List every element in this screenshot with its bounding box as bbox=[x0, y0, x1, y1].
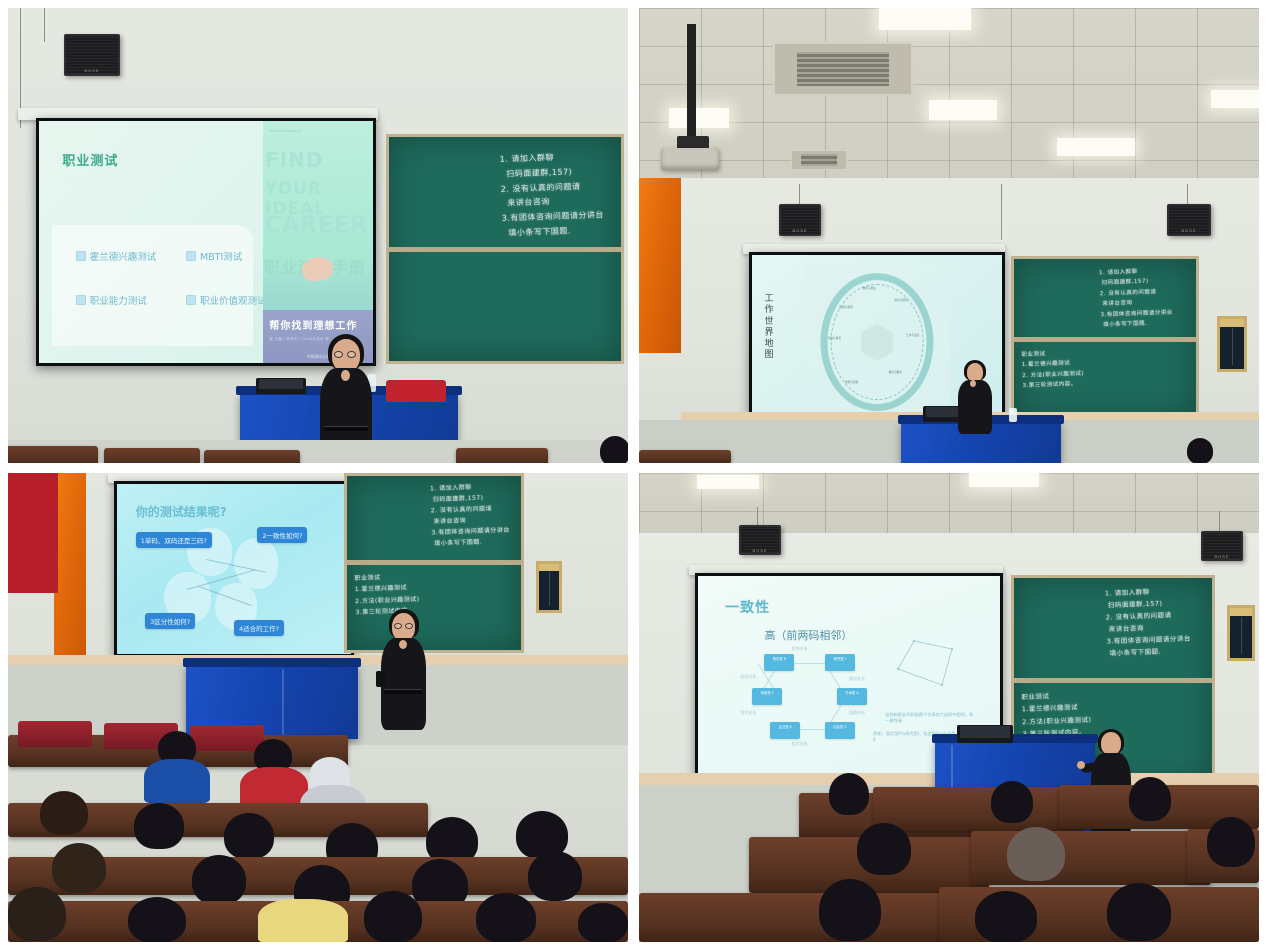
map-diagram: 技术与制造 科学与研究 艺术与设计 教育与服务 管理与销售 行政与事务 机械与建… bbox=[805, 264, 950, 421]
speaker-wire bbox=[1219, 511, 1220, 533]
slide-item-2: 职业能力测试 bbox=[76, 293, 147, 307]
head bbox=[1101, 732, 1121, 755]
map-label: 艺术与设计 bbox=[906, 333, 919, 337]
glasses-right bbox=[347, 351, 356, 358]
orange-pillar bbox=[639, 178, 681, 353]
slide-item-label: 职业价值观测试 bbox=[200, 293, 267, 307]
seat-row bbox=[204, 450, 300, 463]
notice-header bbox=[1230, 608, 1252, 616]
red-bag bbox=[386, 380, 446, 402]
notice-divider bbox=[1241, 617, 1242, 654]
presenter bbox=[376, 609, 432, 735]
map-label: 行政与事务 bbox=[828, 336, 841, 340]
board-text-lower: 职业测试 1.霍兰德兴趣测试 2.方法(职业兴趣测试) 3.第三轮测试内容。 bbox=[1021, 689, 1092, 741]
hex-node-1: 研究型 I bbox=[825, 654, 855, 671]
edge-label: 相对关系 bbox=[849, 676, 865, 682]
speaker-wire bbox=[44, 8, 45, 42]
red-wall-panel bbox=[8, 473, 58, 593]
panel-bottom-right: BOSE BOSE 一致性 高（前两码相邻） 现实型 R 研究型 I 传统型 C… bbox=[639, 473, 1259, 942]
student-head bbox=[476, 893, 536, 942]
ceiling-light bbox=[929, 100, 997, 120]
map-label: 机械与建筑 bbox=[839, 305, 852, 309]
board-text: 1. 请加入群聊 扫码面建群,157) 2. 没有认真的问题请 来讲台咨询 3.… bbox=[499, 149, 604, 241]
slide-subtitle: 高（前两码相邻） bbox=[764, 627, 852, 643]
document-icon bbox=[186, 251, 196, 261]
podium-seam bbox=[282, 669, 284, 735]
student-head bbox=[857, 823, 911, 875]
student-head bbox=[1207, 817, 1255, 867]
student-head bbox=[52, 843, 106, 893]
seat-row bbox=[8, 446, 98, 463]
slide-note-1: 若你的职业代码前两个字母在六边形中相邻，则一致性高 bbox=[885, 712, 976, 725]
document-icon bbox=[186, 295, 196, 305]
notice-divider bbox=[549, 572, 550, 606]
slide-title: 你的测试结果呢? bbox=[136, 503, 227, 520]
edge-label: 相邻关系 bbox=[740, 710, 756, 716]
clicker bbox=[376, 671, 386, 687]
student-head bbox=[8, 887, 66, 941]
student-head bbox=[192, 855, 246, 905]
board-divider bbox=[1014, 678, 1212, 683]
ceiling-vent bbox=[791, 150, 847, 170]
poster-band-title: 帮你找到理想工作 bbox=[269, 317, 357, 332]
panel-top-left: BOSE 职业测试 · · · 霍兰德兴趣测试 MBTI测试 职业能力测试 bbox=[8, 8, 628, 463]
projection-screen: 你的测试结果呢? 1单码、双码还是三码? 2一致性如何? 3区分性如何? 4适合… bbox=[114, 481, 354, 657]
hand bbox=[1077, 761, 1085, 769]
podium-desktop bbox=[183, 658, 362, 667]
ceiling-light bbox=[1057, 138, 1135, 156]
wall-speaker-icon: BOSE bbox=[779, 204, 821, 236]
poster-line1: FIND bbox=[265, 148, 373, 172]
seat-row bbox=[639, 450, 731, 463]
ceiling-projector bbox=[661, 148, 719, 170]
hex-node-3: 艺术型 A bbox=[837, 688, 867, 705]
edge-label: 相对关系 bbox=[792, 741, 808, 747]
hex-node-2: 传统型 C bbox=[752, 688, 782, 705]
glasses-left bbox=[334, 351, 343, 358]
student-head bbox=[1007, 827, 1065, 881]
board-text-upper: 1. 请加入群聊 扫码面建群,157) 2. 没有认真的问题请 来讲台咨询 3.… bbox=[1105, 585, 1192, 660]
ceiling-light bbox=[669, 108, 729, 128]
notice-header bbox=[1220, 319, 1244, 327]
student-head bbox=[1187, 438, 1213, 463]
student-head bbox=[40, 791, 88, 835]
ceiling-light bbox=[879, 8, 971, 30]
seat-row bbox=[873, 787, 1083, 831]
slide-item-label: MBTI测试 bbox=[200, 249, 242, 263]
wall-speaker-icon: BOSE bbox=[739, 525, 781, 555]
speaker-wire bbox=[757, 507, 758, 527]
belt bbox=[384, 689, 422, 694]
student-head bbox=[829, 773, 869, 815]
edge-label: 相隔关系 bbox=[740, 674, 756, 680]
notice-divider bbox=[1232, 328, 1233, 365]
laptop bbox=[256, 378, 306, 394]
slide-dots: · · · bbox=[62, 179, 81, 185]
notice-board bbox=[536, 561, 562, 613]
poster-brand: Recommended bbox=[269, 128, 302, 133]
result-chip-3: 4适合的工作? bbox=[234, 620, 284, 636]
hex-node-0: 现实型 R bbox=[764, 654, 794, 671]
screen-cord bbox=[1001, 184, 1002, 240]
result-chip-2: 3区分性如何? bbox=[145, 613, 195, 629]
panel-top-right: BOSE BOSE 工作世界地图 技术与制造 科学与研究 艺术与设计 教育与服务… bbox=[639, 8, 1259, 463]
map-label: 教育与服务 bbox=[889, 370, 902, 374]
ceiling-speaker-icon: BOSE bbox=[64, 34, 120, 76]
wall-speaker-icon: BOSE bbox=[1201, 531, 1243, 561]
panel-bottom-left: 你的测试结果呢? 1单码、双码还是三码? 2一致性如何? 3区分性如何? 4适合… bbox=[8, 473, 628, 942]
wall-speaker-icon: BOSE bbox=[1167, 204, 1211, 236]
seat-back bbox=[190, 725, 264, 751]
hex-node-5: 社会型 S bbox=[825, 722, 855, 739]
slide-poster: Recommended FIND YOUR IDEAL CAREER 职业测试手… bbox=[263, 121, 373, 363]
result-chip-1: 2一致性如何? bbox=[257, 527, 307, 543]
poster-line3: CAREER bbox=[265, 213, 373, 238]
document-icon bbox=[76, 251, 86, 261]
student-head bbox=[578, 903, 628, 942]
slide-title: 工作世界地图 bbox=[765, 294, 779, 362]
slide-item-label: 霍兰德兴趣测试 bbox=[90, 249, 157, 263]
student-head bbox=[1129, 777, 1171, 821]
edge-label: 相邻关系 bbox=[792, 646, 808, 652]
slide-title: 职业测试 bbox=[62, 150, 118, 169]
blackboard: 1. 请加入群聊 扫码面建群,157) 2. 没有认真的问题请 来讲台咨询 3.… bbox=[386, 134, 624, 364]
document-icon bbox=[76, 295, 86, 305]
air-conditioner-vent bbox=[773, 42, 913, 96]
student-head bbox=[128, 897, 186, 942]
slide-item-3: 职业价值观测试 bbox=[186, 293, 267, 307]
slide-item-label: 职业能力测试 bbox=[90, 293, 147, 307]
notice-board bbox=[1217, 316, 1247, 372]
quad-sketch bbox=[892, 635, 958, 691]
hex-node-4: 企业型 E bbox=[770, 722, 800, 739]
slide-career-test: 职业测试 · · · 霍兰德兴趣测试 MBTI测试 职业能力测试 职业 bbox=[39, 121, 373, 363]
glasses-right bbox=[405, 623, 413, 629]
notice-board bbox=[1227, 605, 1255, 661]
student-body bbox=[144, 759, 210, 803]
projection-screen: 职业测试 · · · 霍兰德兴趣测试 MBTI测试 职业能力测试 职业 bbox=[36, 118, 376, 366]
student-head bbox=[224, 813, 274, 859]
laptop bbox=[957, 725, 1013, 743]
hand bbox=[399, 640, 407, 649]
presenter bbox=[955, 360, 995, 432]
seat-back bbox=[18, 721, 92, 747]
slide-test-result: 你的测试结果呢? 1单码、双码还是三码? 2一致性如何? 3区分性如何? 4适合… bbox=[117, 484, 351, 654]
seat-row bbox=[104, 448, 200, 463]
board-text-lower: 职业测试 1.霍兰德兴趣测试 2. 方法(职业兴趣测试) 3.第三轮测试内容。 bbox=[1021, 348, 1084, 392]
student-head bbox=[600, 436, 628, 463]
map-label: 技术与制造 bbox=[863, 286, 876, 290]
notice-header bbox=[539, 564, 559, 571]
student-head bbox=[991, 781, 1033, 823]
slide-card bbox=[52, 225, 252, 346]
ceiling-light bbox=[1211, 90, 1259, 108]
student-head bbox=[975, 891, 1037, 942]
ceiling-light bbox=[969, 473, 1039, 487]
blackboard: 1. 请加入群聊 扫码面建群,157) 2. 没有认真的问题请 来讲台咨询 3.… bbox=[344, 473, 524, 653]
projector-pole bbox=[687, 24, 696, 142]
water-bottle bbox=[1009, 408, 1017, 422]
hand bbox=[970, 380, 976, 387]
board-divider bbox=[347, 560, 521, 565]
map-label: 管理与销售 bbox=[845, 380, 858, 384]
student-body bbox=[258, 899, 348, 942]
hand bbox=[341, 370, 350, 381]
board-divider bbox=[1014, 337, 1196, 342]
blackboard: 1. 请加入群聊 扫码面建群,157) 2. 没有认真的问题请 来讲台咨询 3.… bbox=[1011, 256, 1199, 422]
seat-row bbox=[639, 893, 959, 942]
slide-item-0: 霍兰德兴趣测试 bbox=[76, 249, 157, 263]
edge-label: 相隔关系 bbox=[849, 710, 865, 716]
board-text-upper: 1. 请加入群聊 扫码面建群,157) 2. 没有认真的问题请 来讲台咨询 3.… bbox=[430, 481, 511, 550]
student-head bbox=[134, 803, 184, 849]
slide-title: 一致性 bbox=[725, 597, 770, 617]
result-blob bbox=[234, 538, 278, 589]
student-head bbox=[1107, 883, 1171, 941]
map-label: 科学与研究 bbox=[894, 298, 907, 302]
seat-row bbox=[456, 448, 548, 463]
student-head bbox=[364, 891, 422, 942]
result-chip-0: 1单码、双码还是三码? bbox=[136, 532, 212, 548]
student-head bbox=[819, 879, 881, 941]
board-text-upper: 1. 请加入群聊 扫码面建群,157) 2. 没有认真的问题请 来讲台咨询 3.… bbox=[1099, 266, 1173, 331]
glasses-left bbox=[394, 623, 402, 629]
belt bbox=[324, 426, 368, 431]
board-divider bbox=[389, 247, 621, 252]
photo-collage: BOSE 职业测试 · · · 霍兰德兴趣测试 MBTI测试 职业能力测试 bbox=[0, 0, 1269, 952]
student-head bbox=[528, 851, 582, 901]
slide-item-1: MBTI测试 bbox=[186, 249, 242, 263]
ceiling-light bbox=[697, 475, 759, 489]
